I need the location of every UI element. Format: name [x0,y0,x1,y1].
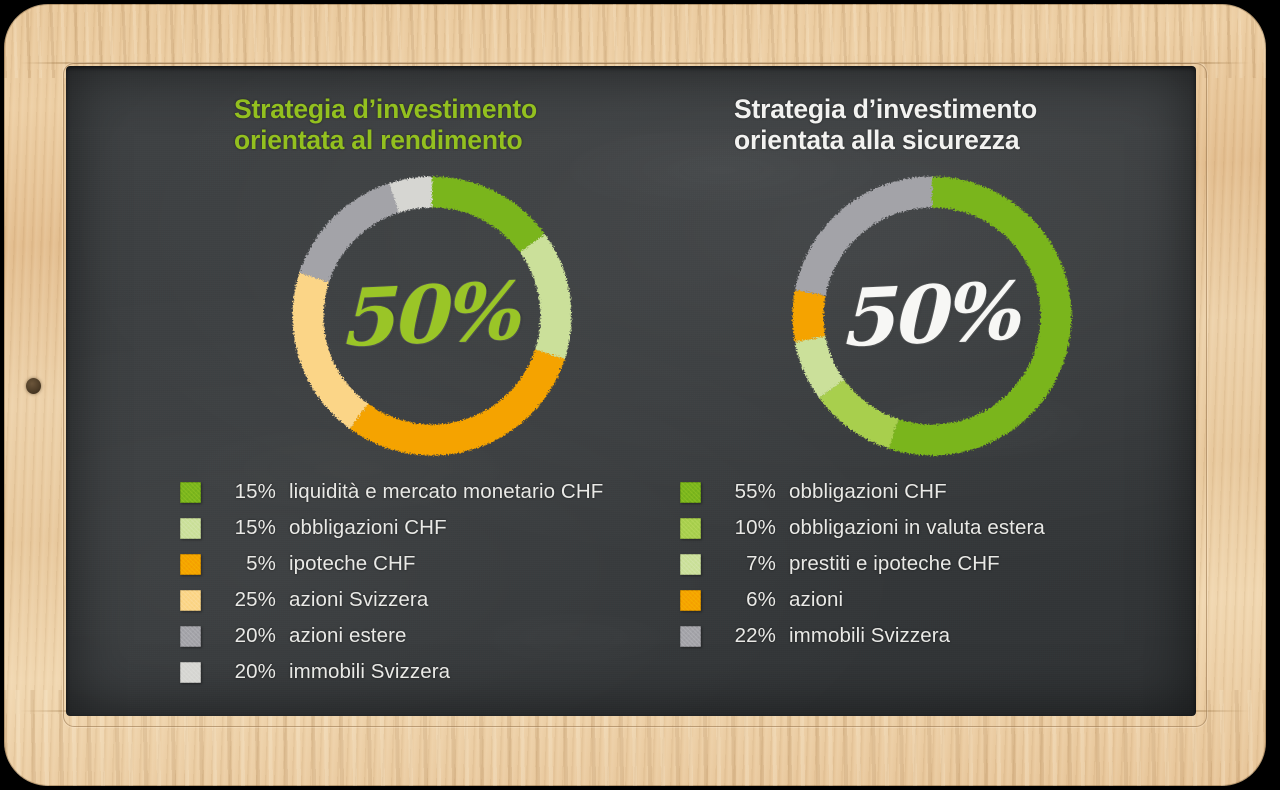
legend-label: immobili Svizzera [789,624,950,648]
legend-swatch-icon [180,662,201,683]
legend-percent: 22% [722,624,776,648]
legend-swatch-icon [680,590,701,611]
legend-label: obbligazioni CHF [789,480,947,504]
legend-swatch-icon [680,626,701,647]
legend-yield: 15% liquidità e mercato monetario CHF 15… [180,474,695,690]
legend-percent: 5% [222,552,276,576]
legend-swatch-icon [180,482,201,503]
legend-item[interactable]: 25% azioni Svizzera [180,582,695,618]
donut-center-value-yield: 50% [344,264,524,365]
legend-label: prestiti e ipoteche CHF [789,552,1000,576]
legend-label: azioni [789,588,843,612]
legend-label: ipoteche CHF [289,552,416,576]
legend-percent: 15% [222,516,276,540]
panel-title-line1: Strategia d’investimento [734,94,1037,124]
legend-item[interactable]: 7% prestiti e ipoteche CHF [680,546,1195,582]
legend-percent: 6% [722,588,776,612]
legend-item[interactable]: 55% obbligazioni CHF [680,474,1195,510]
legend-swatch-icon [180,518,201,539]
legend-percent: 25% [222,588,276,612]
legend-item[interactable]: 15% liquidità e mercato monetario CHF [180,474,695,510]
legend-label: azioni Svizzera [289,588,428,612]
legend-label: obbligazioni CHF [289,516,447,540]
legend-percent: 15% [222,480,276,504]
legend-item[interactable]: 22% immobili Svizzera [680,618,1195,654]
donut-center-label-yield: 50% [282,166,582,466]
panel-title-yield: Strategia d’investimento orientata al re… [234,94,674,155]
legend-item[interactable]: 5% ipoteche CHF [180,546,695,582]
legend-swatch-icon [680,482,701,503]
legend-percent: 55% [722,480,776,504]
legend-security: 55% obbligazioni CHF 10% obbligazioni in… [680,474,1195,654]
legend-percent: 7% [722,552,776,576]
legend-item[interactable]: 20% immobili Svizzera [180,654,695,690]
legend-percent: 20% [222,624,276,648]
legend-item[interactable]: 6% azioni [680,582,1195,618]
wood-knot-icon [26,378,41,394]
donut-chart-security: 50% [782,166,1082,466]
legend-percent: 20% [222,660,276,684]
chart-panel-security: Strategia d’investimento orientata alla … [672,66,1192,716]
legend-swatch-icon [180,590,201,611]
legend-percent: 10% [722,516,776,540]
legend-item[interactable]: 20% azioni estere [180,618,695,654]
legend-label: immobili Svizzera [289,660,450,684]
legend-swatch-icon [180,626,201,647]
chart-panel-yield: Strategia d’investimento orientata al re… [172,66,692,716]
donut-center-value-security: 50% [844,264,1024,365]
panel-title-line2: orientata al rendimento [234,125,674,156]
panel-title-security: Strategia d’investimento orientata alla … [734,94,1194,155]
legend-label: liquidità e mercato monetario CHF [289,480,603,504]
legend-label: obbligazioni in valuta estera [789,516,1045,540]
legend-item[interactable]: 10% obbligazioni in valuta estera [680,510,1195,546]
donut-chart-yield: 50% [282,166,582,466]
donut-center-label-security: 50% [782,166,1082,466]
chalkboard-scene: Strategia d’investimento orientata al re… [0,0,1280,790]
legend-swatch-icon [180,554,201,575]
legend-item[interactable]: 15% obbligazioni CHF [180,510,695,546]
legend-label: azioni estere [289,624,407,648]
panel-title-line2: orientata alla sicurezza [734,125,1194,156]
panel-title-line1: Strategia d’investimento [234,94,537,124]
chalkboard-surface: Strategia d’investimento orientata al re… [66,66,1196,716]
legend-swatch-icon [680,554,701,575]
legend-swatch-icon [680,518,701,539]
